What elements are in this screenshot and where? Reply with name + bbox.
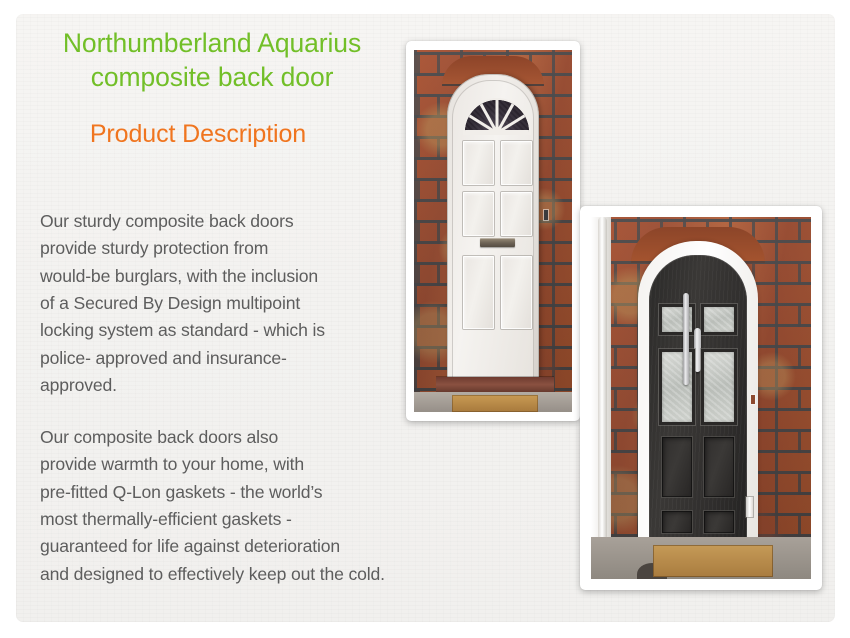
- section-heading-product-description: Product Description: [38, 119, 358, 150]
- door-panel: [662, 437, 692, 497]
- doormat: [452, 395, 538, 412]
- slide-canvas: Northumberland Aquarius composite back d…: [0, 0, 850, 638]
- black-door-photo: [591, 217, 811, 579]
- fanlight-sill: [465, 130, 529, 133]
- door-glazed-pane: [704, 307, 734, 332]
- rendered-wall-edge: [591, 217, 611, 579]
- frame-strike-plate: [746, 497, 753, 517]
- white-door-scene: [414, 50, 572, 412]
- doormat: [653, 545, 773, 577]
- body-paragraph-thermal: Our composite back doors also provide wa…: [40, 424, 470, 588]
- letterbox-icon: [480, 238, 515, 247]
- door-panel: [501, 192, 532, 236]
- door-glazed-pane: [704, 352, 734, 422]
- door-panel: [501, 256, 532, 329]
- door-lock-keep: [751, 395, 755, 404]
- door-panel: [662, 511, 692, 533]
- door-panel: [704, 511, 734, 533]
- door-panel: [463, 256, 494, 329]
- white-door-face: [452, 80, 534, 384]
- black-door-photo-frame: [580, 206, 822, 590]
- page-title: Northumberland Aquarius composite back d…: [38, 26, 386, 95]
- white-door-slab: [447, 74, 539, 384]
- door-panel: [463, 141, 494, 185]
- white-door-photo: [414, 50, 572, 412]
- body-paragraph-security: Our sturdy composite back doors provide …: [40, 208, 410, 399]
- door-lock-keep: [544, 210, 548, 220]
- door-panel: [501, 141, 532, 185]
- door-bar-handle: [683, 293, 689, 385]
- door-panel: [463, 192, 494, 236]
- black-door-slab: [649, 255, 747, 561]
- white-door-photo-frame: [406, 41, 580, 421]
- door-panel: [704, 437, 734, 497]
- text-column: Northumberland Aquarius composite back d…: [38, 26, 398, 150]
- black-door-scene: [591, 217, 811, 579]
- drainpipe: [598, 217, 607, 579]
- fanlight-window: [465, 100, 529, 133]
- door-pull-handle: [694, 328, 701, 372]
